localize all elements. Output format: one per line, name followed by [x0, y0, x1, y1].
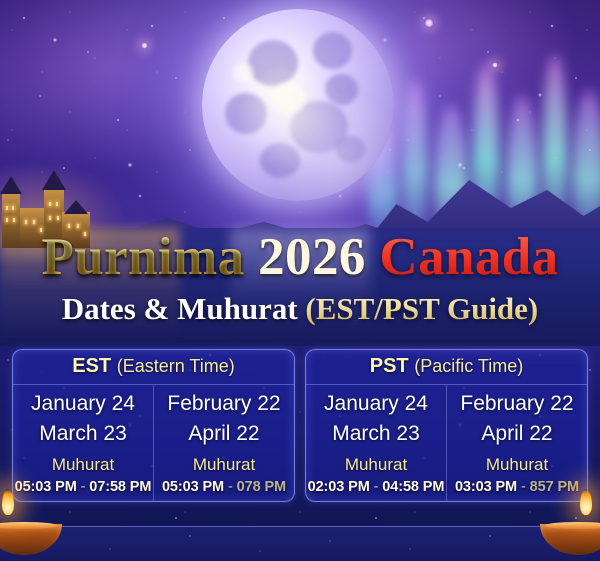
muhurat-start: 05:03 PM	[15, 479, 77, 495]
muhurat-end: 078 PM	[237, 479, 286, 495]
diya-oil-lamp-right	[540, 505, 600, 555]
panel-est-abbr: EST	[72, 355, 111, 377]
muhurat-time: 05:03 PM - 078 PM	[162, 477, 286, 497]
title-word-year: 2026	[258, 228, 366, 286]
muhurat-separator: -	[521, 479, 526, 495]
date-entry: February 22	[167, 389, 280, 419]
muhurat-time: 02:03 PM - 04:58 PM	[308, 477, 445, 497]
timezone-panels: EST (Eastern Time) January 24 March 23 M…	[12, 349, 588, 502]
muhurat-separator: -	[81, 479, 86, 495]
date-entry: April 22	[481, 419, 552, 449]
panel-est-header: EST (Eastern Time)	[13, 350, 294, 385]
muhurat-label: Muhurat	[193, 452, 255, 477]
panel-pst-column-2: February 22 April 22 Muhurat 03:03 PM - …	[447, 385, 587, 501]
date-entry: February 22	[460, 389, 573, 419]
muhurat-separator: -	[228, 479, 233, 495]
panel-est-column-1: January 24 March 23 Muhurat 05:03 PM - 0…	[13, 385, 154, 501]
panel-est-column-2: February 22 April 22 Muhurat 05:03 PM - …	[154, 385, 294, 501]
muhurat-label: Muhurat	[486, 452, 548, 477]
title-word-canada: Canada	[379, 228, 558, 286]
muhurat-end: 857 PM	[530, 479, 579, 495]
purnima-2026-canada-poster: Purnima 2026 Canada Dates & Muhurat (EST…	[0, 0, 600, 561]
muhurat-start: 02:03 PM	[308, 479, 370, 495]
muhurat-start: 05:03 PM	[162, 479, 224, 495]
panel-pst-abbr: PST	[370, 355, 409, 377]
panel-pst-grid: January 24 March 23 Muhurat 02:03 PM - 0…	[306, 385, 587, 501]
date-entry: March 23	[39, 419, 127, 449]
muhurat-time: 05:03 PM - 07:58 PM	[15, 477, 152, 497]
panel-est-grid: January 24 March 23 Muhurat 05:03 PM - 0…	[13, 385, 294, 501]
subtitle-main: Dates & Muhurat	[62, 291, 298, 326]
diya-oil-lamp-left	[0, 505, 62, 555]
muhurat-end: 04:58 PM	[382, 479, 444, 495]
muhurat-start: 03:03 PM	[455, 479, 517, 495]
bottom-bar	[0, 526, 600, 561]
date-entry: April 22	[188, 419, 259, 449]
muhurat-label: Muhurat	[345, 452, 407, 477]
poster-subtitle: Dates & Muhurat (EST/PST Guide)	[0, 290, 600, 328]
panel-pst-zone: (Pacific Time)	[414, 356, 523, 376]
panel-est[interactable]: EST (Eastern Time) January 24 March 23 M…	[12, 349, 295, 502]
diya-bowl	[0, 524, 62, 555]
panel-pst-header: PST (Pacific Time)	[306, 350, 587, 385]
muhurat-separator: -	[374, 479, 379, 495]
subtitle-guide: (EST/PST Guide)	[305, 291, 538, 326]
panel-est-zone: (Eastern Time)	[117, 356, 235, 376]
date-entry: January 24	[31, 389, 135, 419]
title-word-purnima: Purnima	[41, 228, 244, 286]
full-moon	[202, 9, 394, 201]
bright-star-icon	[141, 42, 148, 49]
panel-pst-column-1: January 24 March 23 Muhurat 02:03 PM - 0…	[306, 385, 447, 501]
muhurat-label: Muhurat	[52, 452, 114, 477]
diya-bowl	[540, 524, 600, 555]
date-entry: January 24	[324, 389, 428, 419]
title-block: Purnima 2026 Canada Dates & Muhurat (EST…	[0, 228, 600, 328]
diya-flame-icon	[2, 489, 14, 515]
panel-pst[interactable]: PST (Pacific Time) January 24 March 23 M…	[305, 349, 588, 502]
diya-flame-icon	[580, 489, 592, 515]
muhurat-time: 03:03 PM - 857 PM	[455, 477, 579, 497]
date-entry: March 23	[332, 419, 420, 449]
poster-title: Purnima 2026 Canada	[0, 228, 600, 286]
muhurat-end: 07:58 PM	[89, 479, 151, 495]
